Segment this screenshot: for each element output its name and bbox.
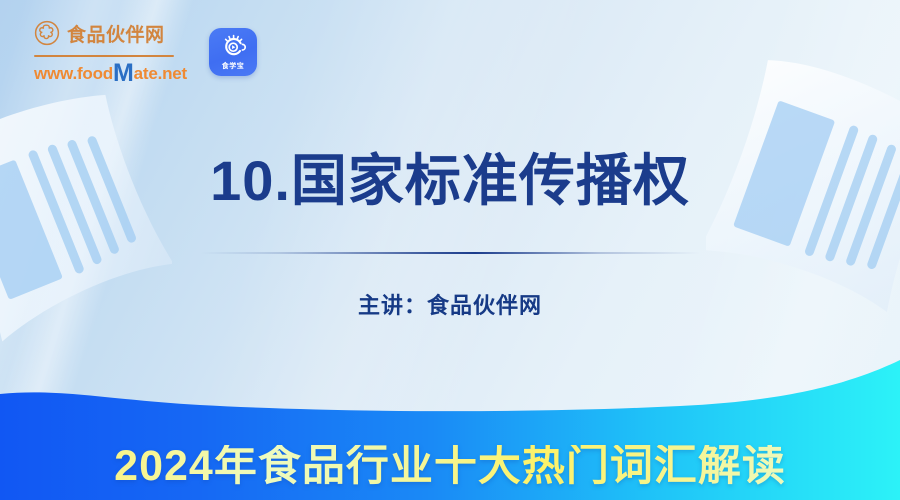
slide-center-content: 10.国家标准传播权 主讲：食品伙伴网 — [0, 150, 900, 320]
horizontal-gradient-divider-icon — [200, 252, 700, 254]
foodmate-chinese-name: 食品伙伴网 — [67, 26, 165, 45]
url-prefix: www.food — [34, 65, 113, 82]
bottom-banner: 2024年食品行业十大热门词汇解读 — [0, 360, 900, 500]
brand-header: 食品伙伴网 www.foodMate.net — [34, 20, 257, 84]
url-suffix: ate.net — [134, 65, 187, 82]
foodmate-flower-mark-icon — [34, 20, 60, 51]
slide-title: 10.国家标准传播权 — [0, 150, 900, 212]
foodmate-url[interactable]: www.foodMate.net — [34, 59, 187, 84]
app-badge-label: 食学宝 — [222, 63, 245, 70]
eye-play-icon — [220, 34, 247, 62]
slide-presenter: 主讲：食品伙伴网 — [0, 288, 900, 320]
url-big-m: M — [113, 61, 134, 86]
foodmate-logo[interactable]: 食品伙伴网 www.foodMate.net — [34, 20, 187, 84]
foodmate-rule — [34, 55, 174, 57]
presentation-slide: 食品伙伴网 www.foodMate.net — [0, 0, 900, 500]
banner-title: 2024年食品行业十大热门词汇解读 — [0, 445, 900, 488]
shixuebao-app-badge[interactable]: 食学宝 — [209, 28, 257, 76]
